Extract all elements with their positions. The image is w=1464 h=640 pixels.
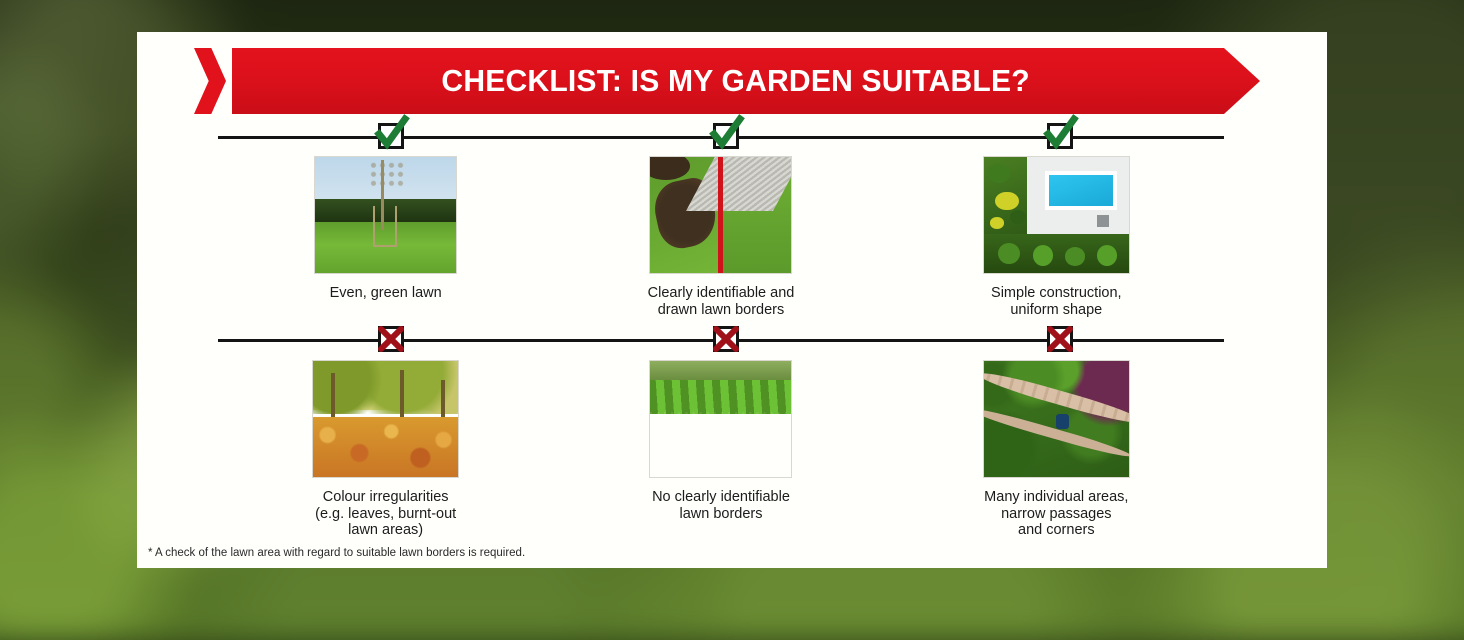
- list-item: Even, green lawn: [218, 156, 553, 318]
- checklist-card: CHECKLIST: IS MY GARDEN SUITABLE?: [137, 32, 1327, 568]
- list-item: Clearly identifiable anddrawn lawn borde…: [553, 156, 888, 318]
- banner: CHECKLIST: IS MY GARDEN SUITABLE?: [194, 48, 1260, 114]
- divider-suitable: [218, 136, 1224, 139]
- list-item-caption: Many individual areas,narrow passagesand…: [984, 489, 1128, 539]
- footnote: * A check of the lawn area with regard t…: [148, 547, 525, 559]
- red-divider-line: [718, 157, 723, 273]
- list-item: Many individual areas,narrow passagesand…: [889, 360, 1224, 539]
- check-icon: [713, 123, 739, 149]
- aerial-garden-with-winding-path-image: [983, 360, 1130, 478]
- list-item: Colour irregularities(e.g. leaves, burnt…: [218, 360, 553, 539]
- list-item-caption: No clearly identifiablelawn borders: [652, 489, 790, 522]
- suitable-items-row: Even, green lawn Clearly identifiable an…: [218, 156, 1224, 318]
- lawn-with-hedge-and-young-tree-image: [314, 156, 457, 274]
- check-icon: [1047, 123, 1073, 149]
- autumn-leaves-lawn-image: [312, 360, 459, 478]
- list-item-caption: Clearly identifiable anddrawn lawn borde…: [648, 285, 795, 318]
- divider-unsuitable: [218, 339, 1224, 342]
- double-chevron-right-icon: [194, 48, 226, 114]
- list-item: Simple construction,uniform shape: [889, 156, 1224, 318]
- swimming-pool-shape: [1045, 171, 1118, 210]
- banner-body: CHECKLIST: IS MY GARDEN SUITABLE?: [232, 48, 1260, 114]
- check-icon: [378, 123, 404, 149]
- page-title: CHECKLIST: IS MY GARDEN SUITABLE?: [441, 63, 1051, 99]
- cross-icon: [1047, 326, 1073, 352]
- list-item-caption: Even, green lawn: [330, 285, 442, 302]
- lawn-without-clear-borders-image: [649, 360, 792, 478]
- cross-icon: [378, 326, 404, 352]
- mulch-versus-gravel-border-image: [649, 156, 792, 274]
- cross-icon: [713, 326, 739, 352]
- list-item-caption: Colour irregularities(e.g. leaves, burnt…: [315, 489, 456, 539]
- unsuitable-items-row: Colour irregularities(e.g. leaves, burnt…: [218, 360, 1224, 539]
- aerial-garden-with-pool-image: [983, 156, 1130, 274]
- list-item: No clearly identifiablelawn borders: [553, 360, 888, 539]
- list-item-caption: Simple construction,uniform shape: [991, 285, 1122, 318]
